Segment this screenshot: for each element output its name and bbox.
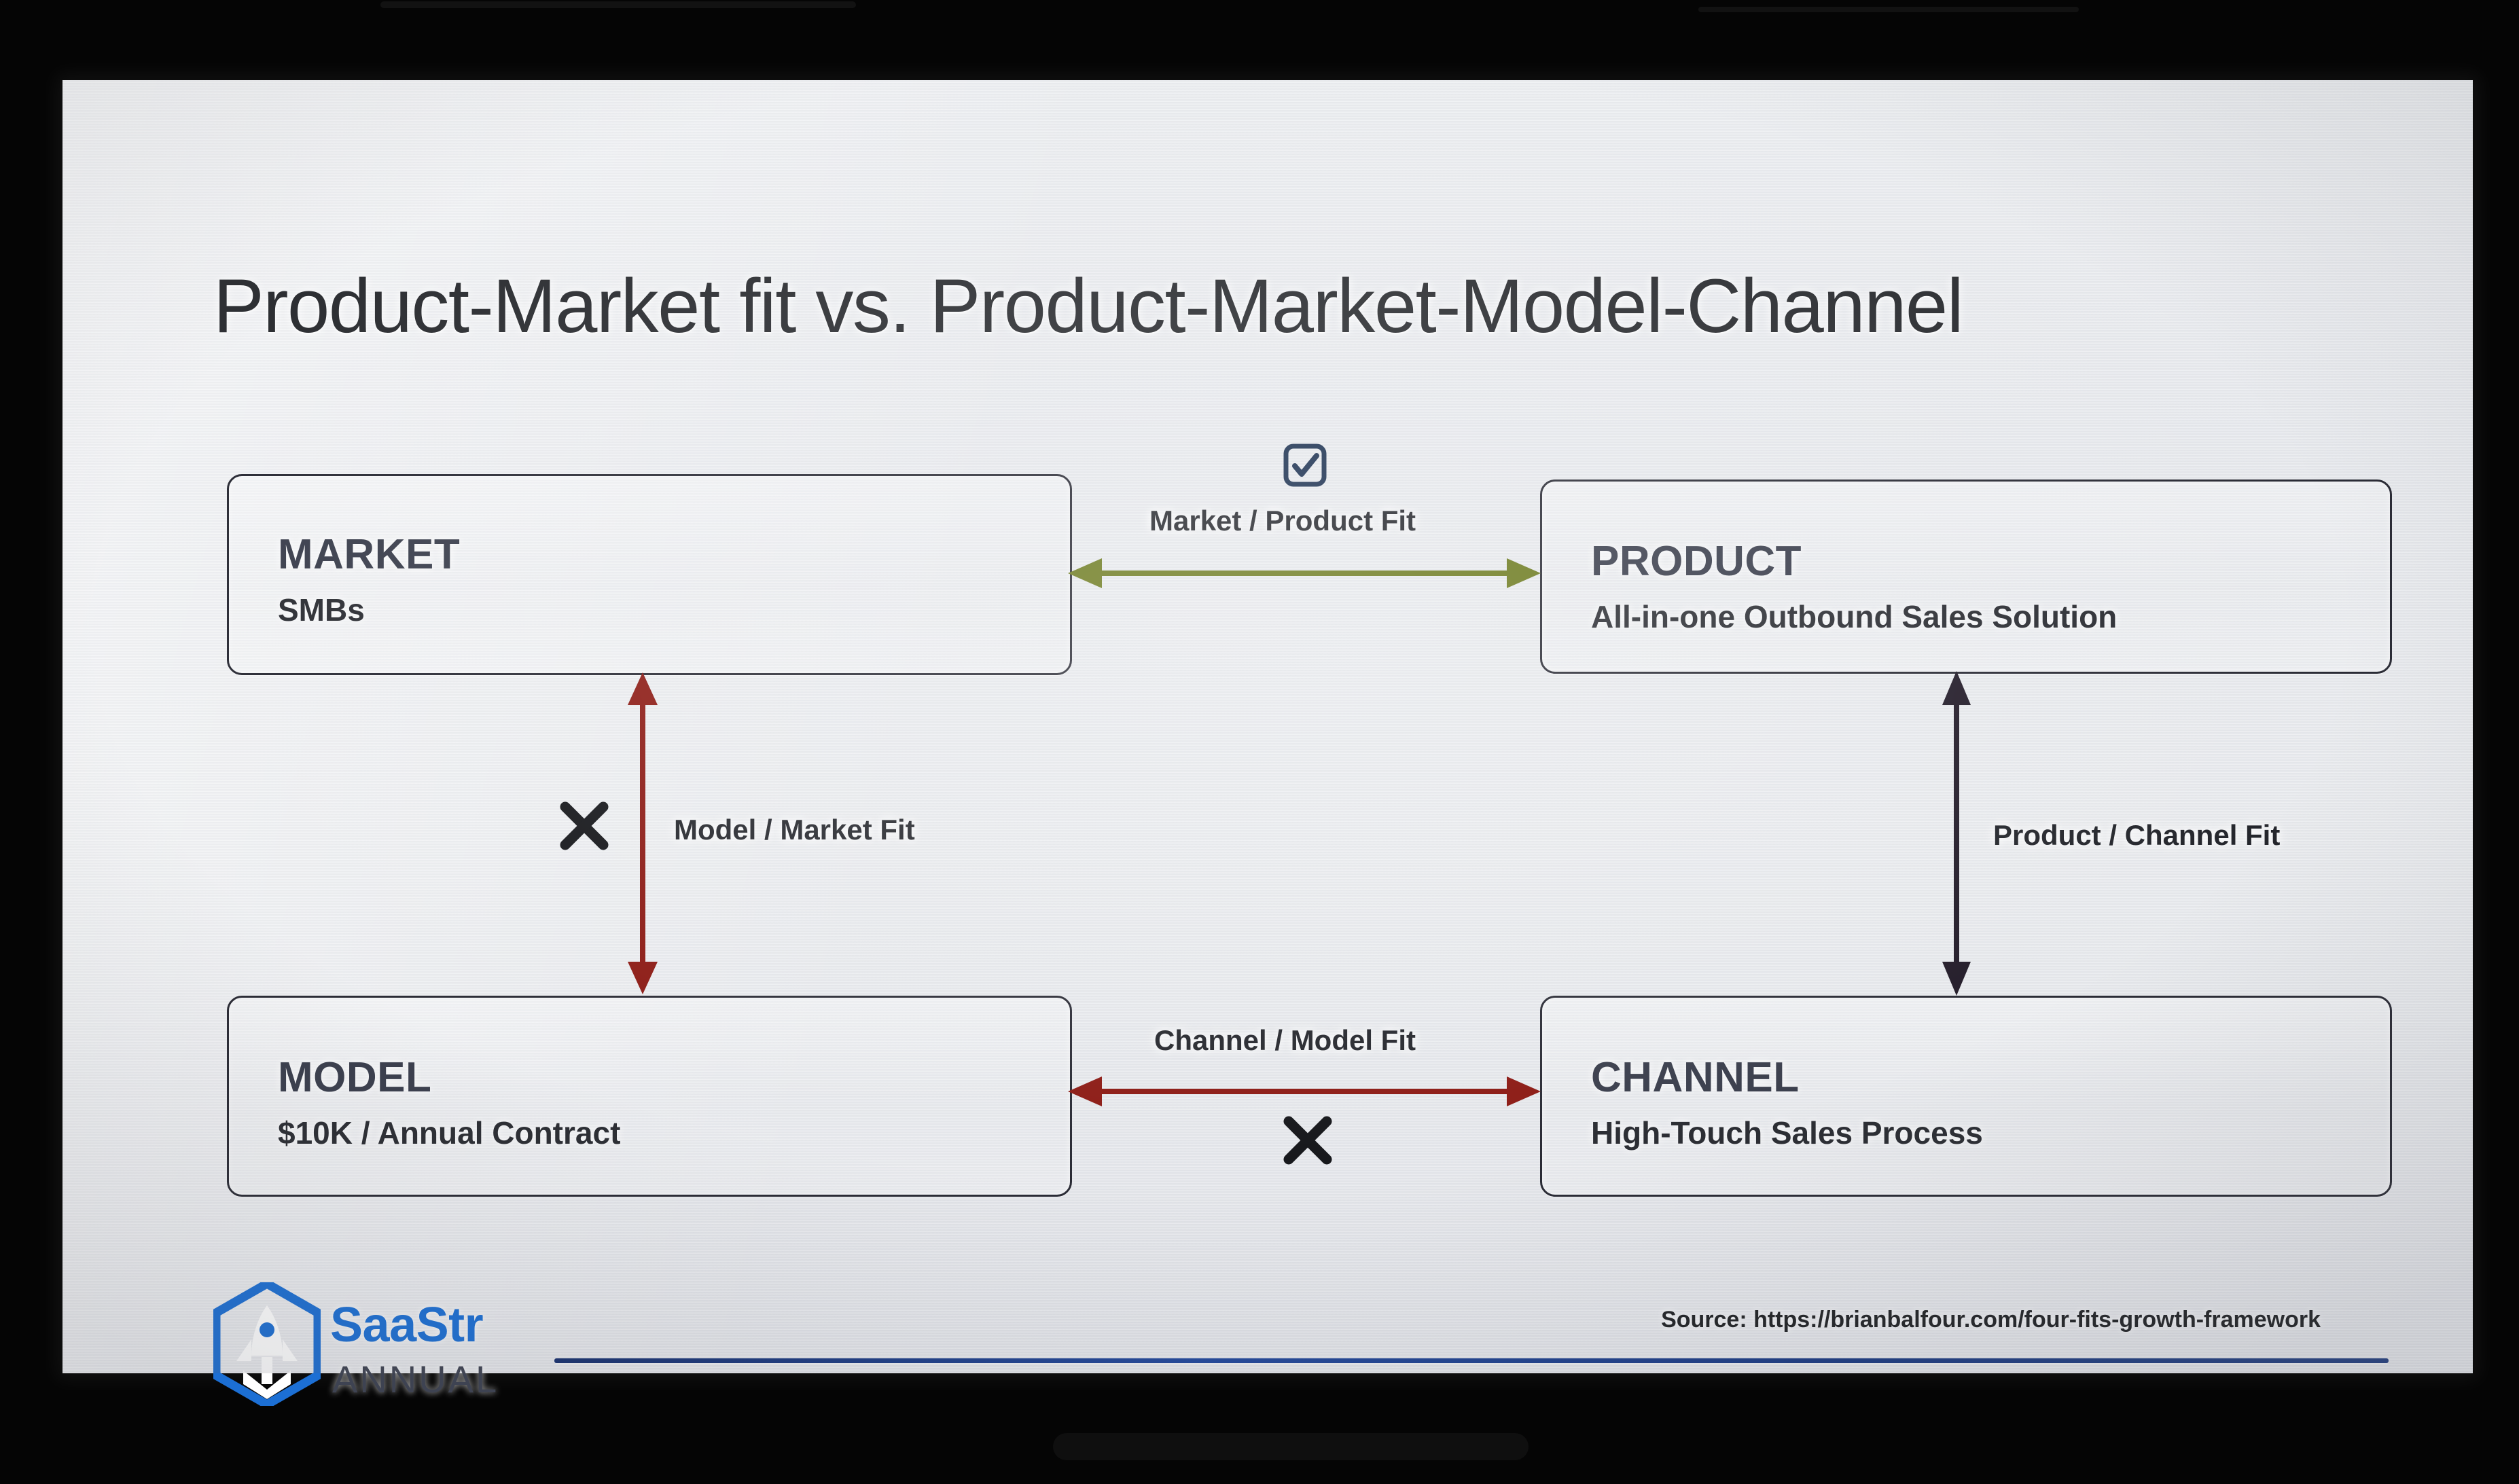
node-channel[interactable]: CHANNEL High-Touch Sales Process <box>1540 996 2392 1197</box>
arrow-market-product <box>1068 556 1541 591</box>
arrow-product-channel <box>1939 671 1974 996</box>
footer-divider <box>554 1358 2389 1363</box>
relation-label-market-product: Market / Product Fit <box>1149 505 1416 537</box>
node-product-title: PRODUCT <box>1591 537 1802 585</box>
node-channel-subtitle: High-Touch Sales Process <box>1591 1115 1983 1151</box>
arrow-model-market <box>625 672 660 994</box>
presentation-slide: Product-Market fit vs. Product-Market-Mo… <box>62 80 2473 1373</box>
node-model-title: MODEL <box>278 1053 431 1102</box>
relation-label-channel-model: Channel / Model Fit <box>1154 1024 1416 1057</box>
node-model-subtitle: $10K / Annual Contract <box>278 1115 620 1151</box>
x-icon <box>1282 1115 1334 1166</box>
x-icon <box>558 800 610 852</box>
node-market[interactable]: MARKET SMBs <box>227 474 1072 675</box>
saastr-annual-logo: SaaStr ANNUAL <box>213 1282 689 1425</box>
ceiling-glint <box>380 1 856 8</box>
page-title: Product-Market fit vs. Product-Market-Mo… <box>213 262 2387 350</box>
floor-glint <box>1053 1433 1529 1460</box>
relation-label-model-market: Model / Market Fit <box>674 814 915 846</box>
logo-wordmark: SaaStr <box>330 1297 483 1353</box>
node-channel-title: CHANNEL <box>1591 1053 1800 1102</box>
logo-subwordmark: ANNUAL <box>332 1357 499 1401</box>
node-market-subtitle: SMBs <box>278 592 365 628</box>
ceiling-glint <box>1698 7 2079 12</box>
node-market-title: MARKET <box>278 530 460 579</box>
saastr-rocket-hexagon-logo <box>213 1282 321 1409</box>
source-citation: Source: https://brianbalfour.com/four-fi… <box>1661 1307 2321 1333</box>
node-product-subtitle: All-in-one Outbound Sales Solution <box>1591 598 2117 635</box>
node-model[interactable]: MODEL $10K / Annual Contract <box>227 996 1072 1197</box>
checkbox-checked-icon <box>1283 444 1327 487</box>
arrow-channel-model <box>1068 1074 1541 1109</box>
relation-label-product-channel: Product / Channel Fit <box>1993 819 2280 852</box>
node-product[interactable]: PRODUCT All-in-one Outbound Sales Soluti… <box>1540 479 2392 674</box>
